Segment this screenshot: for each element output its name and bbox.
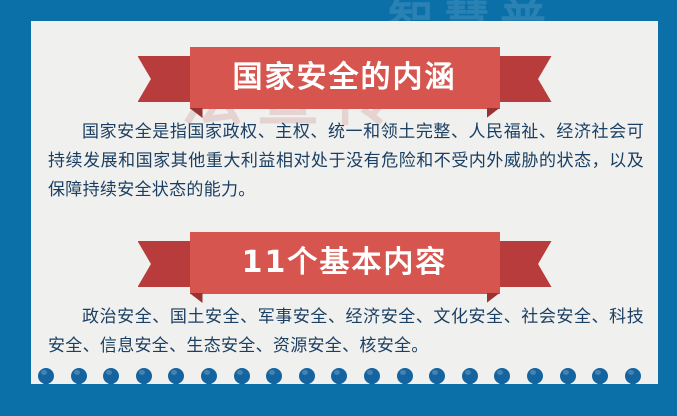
decorative-pin-icon (234, 368, 250, 384)
decorative-pin-icon (625, 368, 641, 384)
decorative-pin-icon (429, 368, 445, 384)
decorative-pin-icon (299, 368, 315, 384)
decorative-pin-icon (201, 368, 217, 384)
decorative-pin-icon (103, 368, 119, 384)
ribbon-tail-left-icon (138, 56, 194, 102)
decorative-pin-icon (38, 368, 54, 384)
ribbon-tail-right-icon (496, 56, 552, 102)
ribbon-panel-1: 国家安全的内涵 (190, 47, 500, 109)
decorative-pin-icon (462, 368, 478, 384)
decorative-pin-icon (266, 368, 282, 384)
ribbon-banner-1: 国家安全的内涵 (31, 47, 658, 109)
ribbon-tail-left-icon (138, 241, 194, 287)
decorative-pin-icon (397, 368, 413, 384)
ribbon-title-1: 国家安全的内涵 (233, 63, 457, 93)
section-body-2: 政治安全、国土安全、军事安全、经济安全、文化安全、社会安全、科技安全、信息安全、… (48, 303, 644, 361)
ribbon-tail-right-icon (496, 241, 552, 287)
section-body-1: 国家安全是指国家政权、主权、统一和领土完整、人民福祉、经济社会可持续发展和国家其… (48, 118, 644, 206)
decorative-pin-icon (527, 368, 543, 384)
decorative-pin-icon (331, 368, 347, 384)
bottom-bar (31, 384, 658, 395)
poster-canvas: 智慧普 法宣传 国家安全的内涵 国家安全是指国家政权、主权、统一和领土完整、人民… (0, 0, 677, 416)
ribbon-fold-right-icon (487, 293, 500, 303)
decorative-pin-icon (560, 368, 576, 384)
decorative-pin-icon (592, 368, 608, 384)
decorative-pin-icon (71, 368, 87, 384)
content-card: 法宣传 国家安全的内涵 国家安全是指国家政权、主权、统一和领土完整、人民福祉、经… (31, 21, 658, 395)
decorative-pin-icon (364, 368, 380, 384)
ribbon-fold-left-icon (190, 293, 203, 303)
decorative-pin-icon (494, 368, 510, 384)
decorative-pin-icon (168, 368, 184, 384)
ribbon-fold-left-icon (190, 108, 203, 118)
ribbon-title-2: 11个基本内容 (242, 248, 448, 278)
ribbon-banner-2: 11个基本内容 (31, 232, 658, 294)
ribbon-panel-2: 11个基本内容 (190, 232, 500, 294)
ribbon-fold-right-icon (487, 108, 500, 118)
decorative-pin-icon (136, 368, 152, 384)
